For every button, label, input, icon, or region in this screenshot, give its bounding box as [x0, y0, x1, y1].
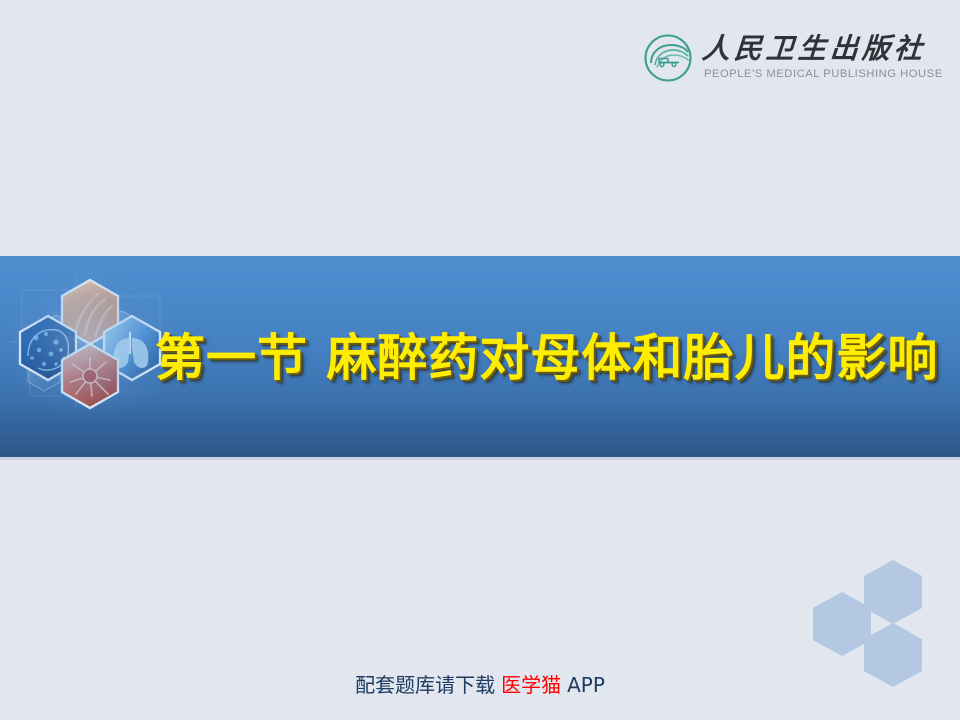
presentation-slide: 人民卫生出版社 PEOPLE'S MEDICAL PUBLISHING HOUS… [0, 0, 960, 720]
footer-promo: 配套题库请下载医学猫APP [0, 672, 960, 698]
footer-prefix-text: 配套题库请下载 [355, 673, 495, 697]
slide-title: 第一节 麻醉药对母体和胎儿的影响 [155, 333, 938, 383]
footer-brand-text: 医学猫 [501, 673, 561, 697]
publisher-logo: 人民卫生出版社 PEOPLE'S MEDICAL PUBLISHING HOUS… [643, 32, 898, 94]
hexagon-shape-top [864, 560, 922, 624]
hexagon-shape-left [813, 592, 871, 656]
publisher-circular-emblem-icon [643, 33, 693, 83]
publisher-english-name: PEOPLE'S MEDICAL PUBLISHING HOUSE [704, 67, 943, 81]
publisher-logo-text: 人民卫生出版社 PEOPLE'S MEDICAL PUBLISHING HOUS… [702, 32, 943, 81]
footer-suffix-text: APP [567, 673, 605, 697]
publisher-chinese-name: 人民卫生出版社 [701, 33, 944, 65]
slide-title-row: 第一节 麻醉药对母体和胎儿的影响 [0, 256, 960, 459]
